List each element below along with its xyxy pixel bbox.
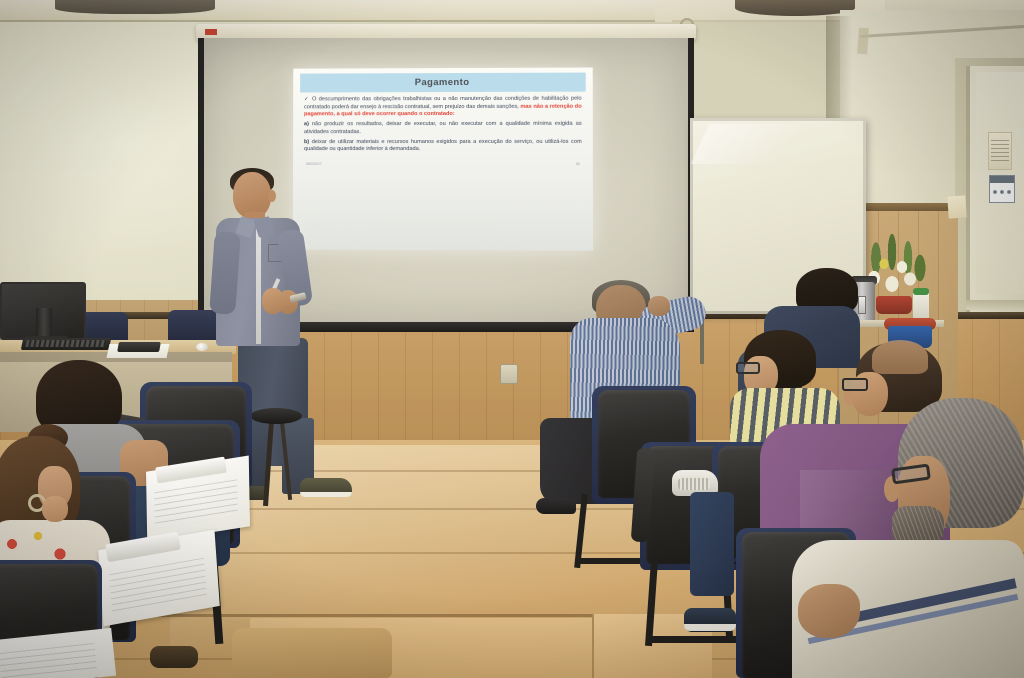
door-panel-divider: [966, 300, 1024, 310]
slide-paragraph-3: b) deixar de utilizar materiais e recurs…: [304, 138, 582, 154]
audience-purple-scalp: [872, 340, 928, 374]
computer-mouse[interactable]: [196, 343, 208, 351]
red-vase: [876, 296, 912, 314]
check-icon: ✓: [304, 96, 310, 102]
small-wall-paper: [947, 195, 966, 218]
slide-paragraph-2: a) não produzir os resultados, deixar de…: [304, 121, 582, 137]
audience-dark-shoe-sole: [684, 624, 736, 631]
slide-title-band: Pagamento: [300, 73, 586, 93]
wall-notice-text: [991, 140, 1009, 164]
power-outlet: [500, 364, 518, 384]
wall-seam-patch: [857, 28, 869, 55]
stool-seat[interactable]: [250, 408, 302, 424]
slide-p2-marker: a): [304, 121, 309, 127]
air-vent-right-icon: [735, 0, 855, 16]
thermos-gauge: [858, 296, 866, 314]
slide-p3-text: deixar de utilizar materiais e recursos …: [304, 138, 582, 152]
slide-page-number: 85: [576, 162, 580, 166]
glasses-icon: [842, 378, 868, 391]
slide-paragraph-1: ✓ O descumprimento das obrigações trabal…: [304, 96, 582, 120]
slide-footer: 08/03/2017 85: [300, 156, 586, 166]
keyboard-keys: [25, 340, 106, 347]
audience-jeans-leg: [690, 492, 734, 596]
slide-title: Pagamento: [415, 77, 470, 88]
slide-p2-text: não produzir os resultados, deixar de ex…: [304, 121, 582, 135]
chair-wood-seat[interactable]: [232, 628, 392, 678]
presenter-shoe-sole: [300, 492, 352, 497]
air-vent-icon: [55, 0, 215, 14]
classroom-photo: PROIBIDO Pagamento ✓ O descumprimento da…: [0, 0, 1024, 678]
slide-p1-colon: :: [453, 111, 455, 117]
glasses-icon: [736, 362, 760, 374]
slide-date: 08/03/2017: [306, 162, 322, 166]
prohibited-icons: [991, 185, 1013, 199]
audience-hand: [798, 584, 860, 638]
bottle-cap: [913, 288, 929, 295]
pencil-pouch: [117, 342, 161, 352]
presenter-shirt-placket: [256, 228, 261, 344]
prohibited-sign-header: [990, 176, 1014, 183]
slide-p3-marker: b): [304, 139, 309, 145]
desk-chair[interactable]: [168, 310, 220, 344]
audience-shoe-sole: [678, 478, 710, 490]
projected-slide: Pagamento ✓ O descumprimento das obrigaç…: [293, 68, 593, 251]
screen-brand-label: [205, 29, 217, 35]
audience-woman-hand: [42, 496, 68, 522]
slide-body: ✓ O descumprimento das obrigações trabal…: [300, 92, 586, 154]
presenter-ear: [268, 190, 276, 202]
audience-shoe: [536, 498, 576, 514]
audience-sandal: [150, 646, 198, 668]
chair-foot-rail: [650, 636, 736, 643]
whiteboard-glare: [691, 124, 860, 164]
audience-hand: [648, 296, 670, 316]
